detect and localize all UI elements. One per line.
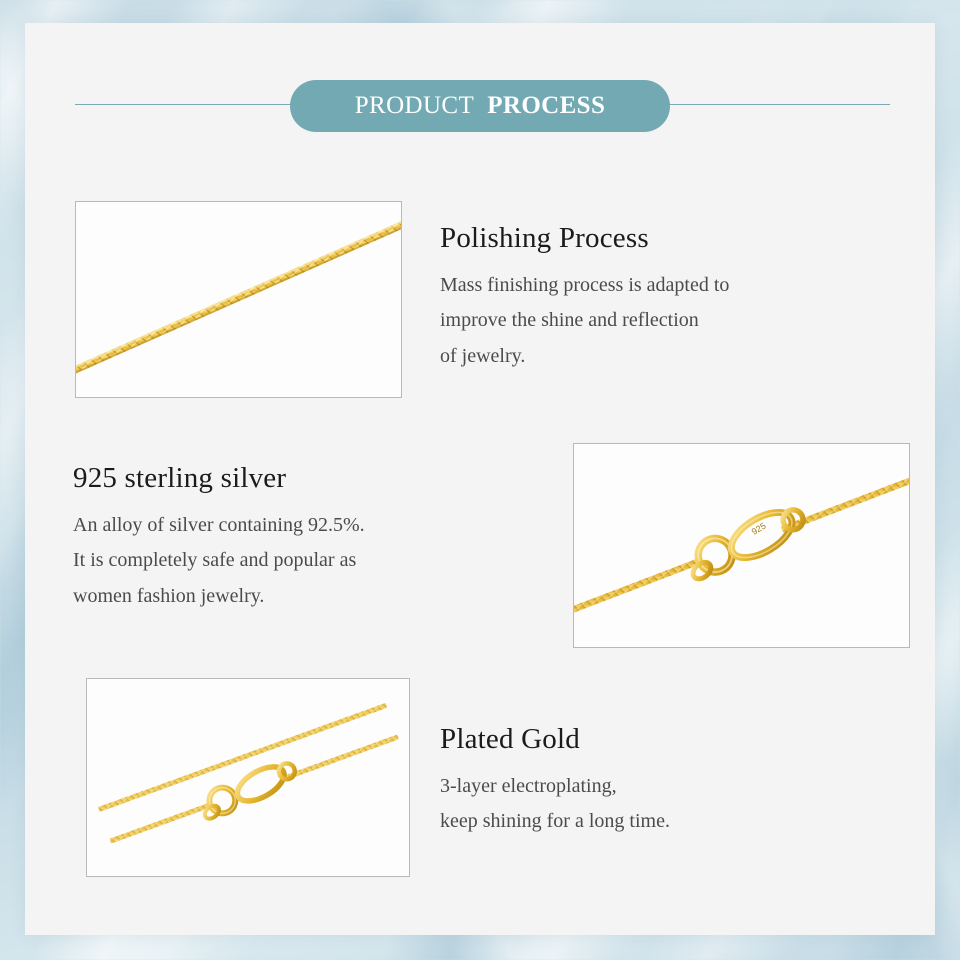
body-line: It is completely safe and popular as (73, 543, 533, 578)
photo-frame-sterling-silver: 925 (573, 443, 910, 648)
page-title-word-product: PRODUCT (355, 92, 475, 120)
gold-chain-clasp-925-tag-icon: 925 (574, 444, 909, 647)
heading-plated-gold: Plated Gold (440, 723, 890, 756)
body-line: of jewelry. (440, 339, 890, 374)
section-polishing: Polishing Process Mass finishing process… (25, 178, 935, 403)
content-panel: PRODUCT PROCESS (25, 23, 935, 935)
photo-frame-polishing (75, 201, 402, 398)
page-title: PRODUCT PROCESS (290, 80, 670, 132)
body-line: An alloy of silver containing 92.5%. (73, 508, 533, 543)
body-line: keep shining for a long time. (440, 804, 890, 839)
section-sterling-silver: 925 sterling silver An alloy of silver c… (25, 420, 935, 645)
text-block-polishing: Polishing Process Mass finishing process… (440, 222, 890, 374)
photo-frame-plated-gold (86, 678, 410, 877)
doubled-gold-chain-clasp-icon (87, 679, 409, 876)
text-block-plated-gold: Plated Gold 3-layer electroplating, keep… (440, 723, 890, 840)
section-plated-gold: Plated Gold 3-layer electroplating, keep… (25, 655, 935, 885)
header-rule-left (75, 104, 300, 105)
header-rule-right (665, 104, 890, 105)
page-title-word-process: PROCESS (487, 92, 605, 120)
gold-box-chain-diagonal-icon (76, 202, 401, 397)
body-line: Mass finishing process is adapted to (440, 268, 890, 303)
text-block-sterling-silver: 925 sterling silver An alloy of silver c… (73, 462, 533, 614)
heading-sterling-silver: 925 sterling silver (73, 462, 533, 495)
body-line: 3-layer electroplating, (440, 769, 890, 804)
heading-polishing: Polishing Process (440, 222, 890, 255)
body-line: improve the shine and reflection (440, 303, 890, 338)
body-line: women fashion jewelry. (73, 579, 533, 614)
header: PRODUCT PROCESS (25, 23, 935, 153)
